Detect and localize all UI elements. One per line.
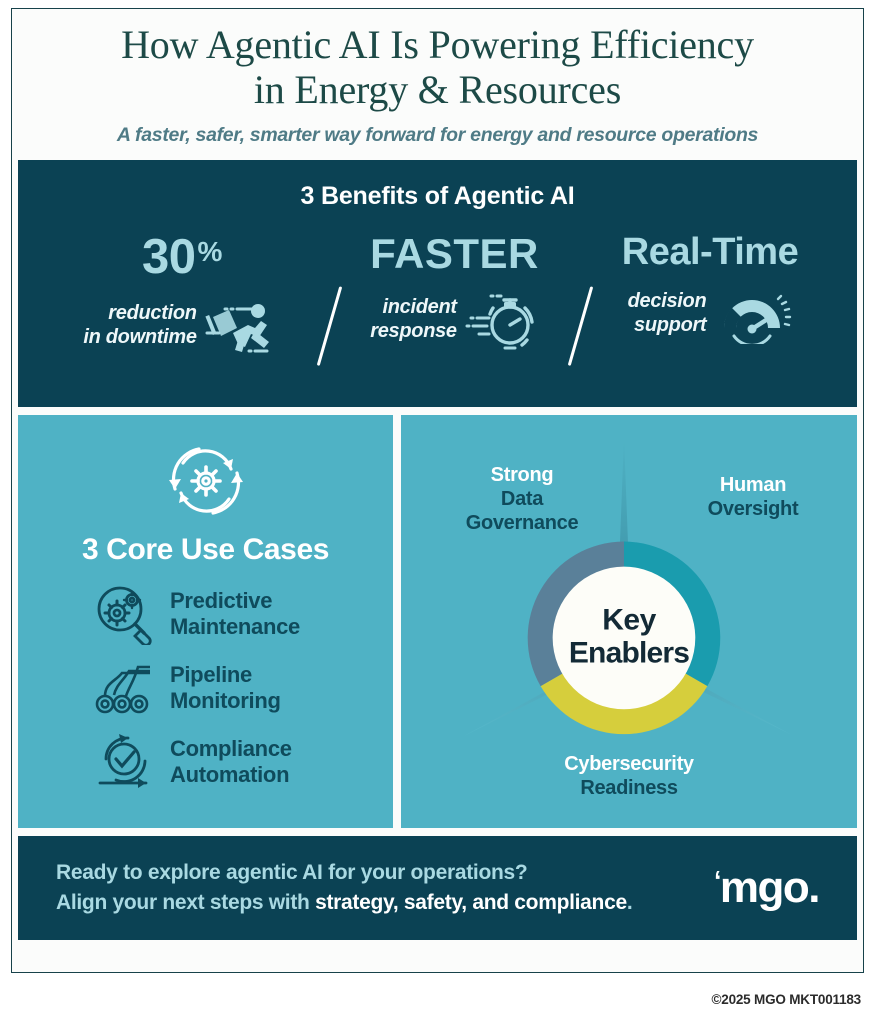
page-title: How Agentic AI Is Powering Efficiency in…	[38, 23, 837, 113]
benefit-value-unit: %	[198, 236, 222, 267]
enabler-lead: Cybersecurity	[514, 752, 744, 776]
key-enablers-center: Key Enablers	[569, 603, 689, 670]
use-case-label: Pipeline Monitoring	[170, 662, 281, 713]
key-enablers-center-line-2: Enablers	[569, 637, 689, 671]
enabler-lead: Human	[673, 473, 833, 497]
key-enablers-center-line-1: Key	[569, 603, 689, 637]
use-case-label: Compliance Automation	[170, 736, 292, 787]
benefit-caption-line-2: in downtime	[83, 326, 196, 350]
use-cases-list: Predictive Maintenance	[18, 583, 393, 793]
use-case-label-line-2: Maintenance	[170, 614, 300, 640]
pipeline-icon	[94, 659, 156, 717]
benefit-value: FASTER	[341, 233, 569, 275]
gauge-icon	[712, 284, 792, 344]
enabler-rest-line-1: Oversight	[708, 498, 799, 520]
running-person-icon	[203, 295, 281, 357]
gear-refresh-cycle-icon	[153, 433, 259, 529]
enabler-rest-line-1: Readiness	[580, 777, 677, 799]
enabler-rest-line-1: Data	[501, 488, 543, 510]
enabler-label-human-oversight: Human Oversight	[673, 473, 833, 521]
cta-line-2-pre: Align your next steps with	[56, 891, 315, 914]
benefit-value: 30%	[46, 233, 318, 282]
use-case-label-line-1: Compliance	[170, 736, 292, 762]
benefits-title: 3 Benefits of Agentic AI	[18, 182, 857, 211]
cta-text: Ready to explore agentic AI for your ope…	[56, 858, 632, 918]
enabler-label-data-governance: Strong Data Governance	[437, 463, 607, 535]
cta-line-2: Align your next steps with strategy, saf…	[56, 888, 632, 918]
cta-banner: Ready to explore agentic AI for your ope…	[18, 836, 857, 940]
stopwatch-icon	[463, 288, 539, 352]
benefit-item-downtime: 30% reduction in downtime	[46, 233, 318, 357]
benefit-item-incident: FASTER incident response	[341, 233, 569, 352]
use-case-item-predictive-maintenance: Predictive Maintenance	[94, 583, 393, 645]
stat-divider-1	[317, 286, 342, 366]
infographic-page: How Agentic AI Is Powering Efficiency in…	[0, 0, 875, 1025]
stat-divider-2	[567, 286, 592, 366]
benefit-caption: reduction in downtime	[83, 302, 196, 349]
benefit-value-number: 30	[142, 230, 196, 284]
page-subtitle: A faster, safer, smarter way forward for…	[38, 124, 837, 147]
use-case-item-compliance-automation: Compliance Automation	[94, 731, 393, 793]
cta-line-2-strong: strategy, safety, and compliance	[315, 891, 627, 914]
use-cases-title: 3 Core Use Cases	[18, 533, 393, 567]
header: How Agentic AI Is Powering Efficiency in…	[12, 9, 863, 147]
benefits-stats: 30% reduction in downtime	[18, 233, 857, 367]
use-case-label-line-1: Pipeline	[170, 662, 281, 688]
benefit-caption: decision support	[628, 290, 707, 337]
benefit-caption-line-2: support	[628, 314, 707, 338]
benefit-caption-line-1: decision	[628, 290, 707, 314]
footer-copyright: ©2025 MGO MKT001183	[712, 992, 861, 1007]
use-case-label-line-2: Automation	[170, 762, 292, 788]
check-cycle-icon	[94, 731, 156, 793]
enabler-label-cybersecurity-readiness: Cybersecurity Readiness	[514, 752, 744, 800]
benefit-caption-line-1: incident	[370, 296, 457, 320]
use-case-label-line-1: Predictive	[170, 588, 300, 614]
benefit-item-decision: Real-Time decision support	[591, 233, 829, 344]
benefits-panel: 3 Benefits of Agentic AI 30% reduction i…	[18, 160, 857, 407]
title-line-1: How Agentic AI Is Powering Efficiency	[38, 23, 837, 68]
title-line-2: in Energy & Resources	[38, 68, 837, 113]
use-case-item-pipeline-monitoring: Pipeline Monitoring	[94, 659, 393, 717]
enabler-lead: Strong	[437, 463, 607, 487]
middle-row: 3 Core Use Cases	[18, 415, 857, 828]
use-case-label: Predictive Maintenance	[170, 588, 300, 639]
cta-line-2-post: .	[627, 891, 633, 914]
magnifier-gears-icon	[94, 583, 156, 645]
benefit-caption-line-1: reduction	[83, 302, 196, 326]
benefit-value: Real-Time	[591, 233, 829, 271]
logo-text: mgo.	[720, 863, 819, 913]
benefit-caption: incident response	[370, 296, 457, 343]
enabler-rest-line-2: Governance	[466, 512, 579, 534]
mgo-logo: ‘mgo.	[714, 863, 827, 913]
key-enablers-panel: Key Enablers Strong Data Governance Huma…	[401, 415, 857, 828]
use-cases-panel: 3 Core Use Cases	[18, 415, 393, 828]
benefit-caption-line-2: response	[370, 320, 457, 344]
use-case-label-line-2: Monitoring	[170, 688, 281, 714]
infographic-frame: How Agentic AI Is Powering Efficiency in…	[11, 8, 864, 973]
cta-line-1: Ready to explore agentic AI for your ope…	[56, 858, 632, 888]
